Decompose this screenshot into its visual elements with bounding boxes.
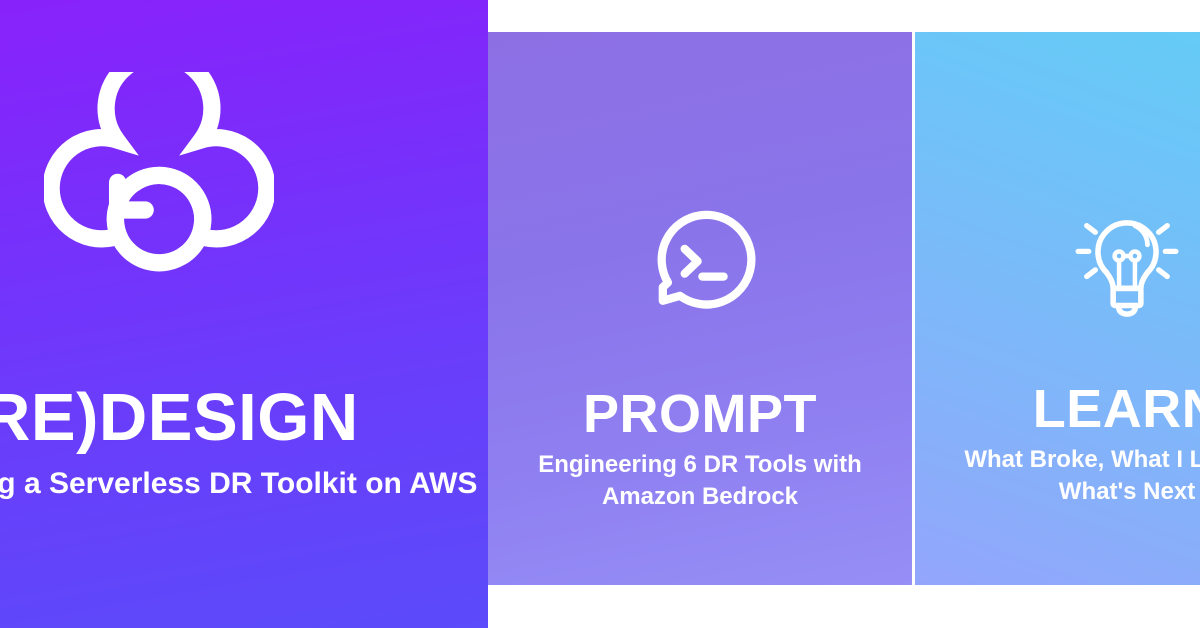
panel-subtitle-design: Architecting a Serverless DR Toolkit on …: [0, 463, 477, 506]
panel-design[interactable]: (RE)DESIGN Architecting a Serverless DR …: [0, 0, 488, 628]
panel-title-prompt: PROMPT: [583, 387, 817, 441]
panel-prompt[interactable]: PROMPT Engineering 6 DR Tools with Amazo…: [488, 32, 912, 585]
panel-subtitle-learn: What Broke, What I Learned, What's Next: [957, 444, 1200, 509]
panel-learn[interactable]: LEARN What Broke, What I Learned, What's…: [915, 32, 1200, 585]
panel-title-design: (RE)DESIGN: [0, 384, 359, 451]
terminal-chat-bubble-icon: [641, 204, 759, 322]
cloud-restore-icon: [44, 72, 274, 302]
panel-subtitle-prompt: Engineering 6 DR Tools with Amazon Bedro…: [535, 449, 865, 514]
panel-title-learn: LEARN: [1033, 382, 1200, 436]
lightbulb-idea-icon: [1061, 192, 1193, 324]
banner-stage: (RE)DESIGN Architecting a Serverless DR …: [0, 0, 1200, 628]
